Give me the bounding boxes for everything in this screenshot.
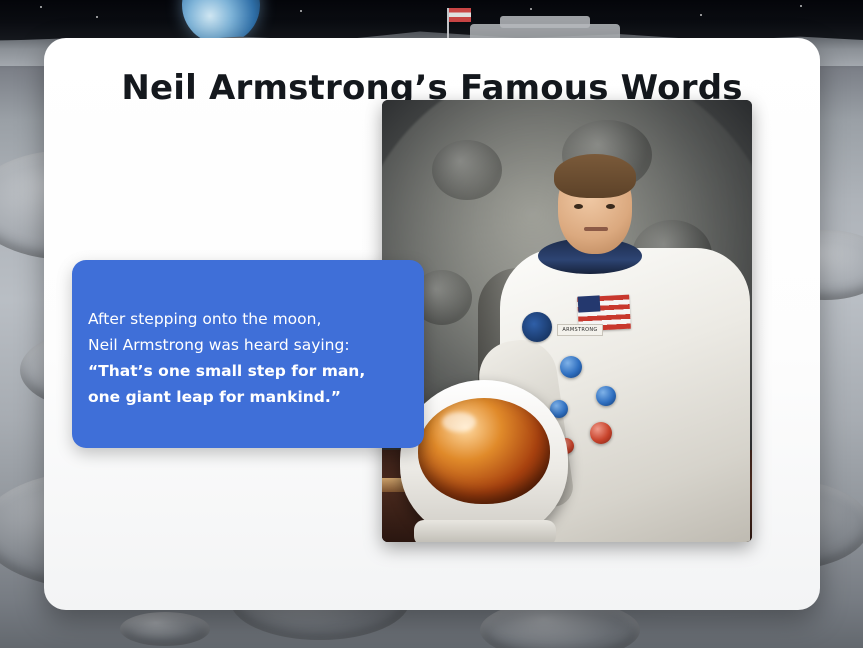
quote-intro-line-2: Neil Armstrong was heard saying:: [88, 332, 428, 358]
star-icon: [700, 14, 702, 16]
mouth: [584, 227, 608, 231]
star-icon: [300, 10, 302, 12]
eye: [574, 204, 583, 209]
quote-intro-line-1: After stepping onto the moon,: [88, 306, 428, 332]
suit-connector-red: [590, 422, 612, 444]
gold-visor: [418, 398, 550, 504]
astronaut-hair: [554, 154, 636, 198]
quote-line-2: one giant leap for mankind.”: [88, 384, 428, 410]
slide-root: Neil Armstrong’s Famous Words ARMSTRONG: [0, 0, 863, 648]
helmet-base-ring: [414, 520, 556, 542]
crater: [120, 612, 210, 646]
suit-connector-blue: [560, 356, 582, 378]
visor-glint: [442, 412, 476, 432]
quote-line-1: “That’s one small step for man,: [88, 358, 428, 384]
moon-crater: [432, 140, 502, 200]
suit-connector-blue: [596, 386, 616, 406]
star-icon: [96, 16, 98, 18]
us-flag-union: [578, 295, 601, 312]
us-flag-icon: [449, 8, 471, 22]
quote-text: After stepping onto the moon, Neil Armst…: [88, 306, 428, 410]
star-icon: [40, 6, 42, 8]
lunar-module-top: [500, 16, 590, 28]
neil-armstrong-photo: ARMSTRONG: [382, 100, 752, 542]
name-tag: ARMSTRONG: [557, 324, 603, 336]
nasa-patch-icon: [522, 312, 552, 342]
star-icon: [800, 5, 802, 7]
star-icon: [530, 8, 532, 10]
eye: [606, 204, 615, 209]
